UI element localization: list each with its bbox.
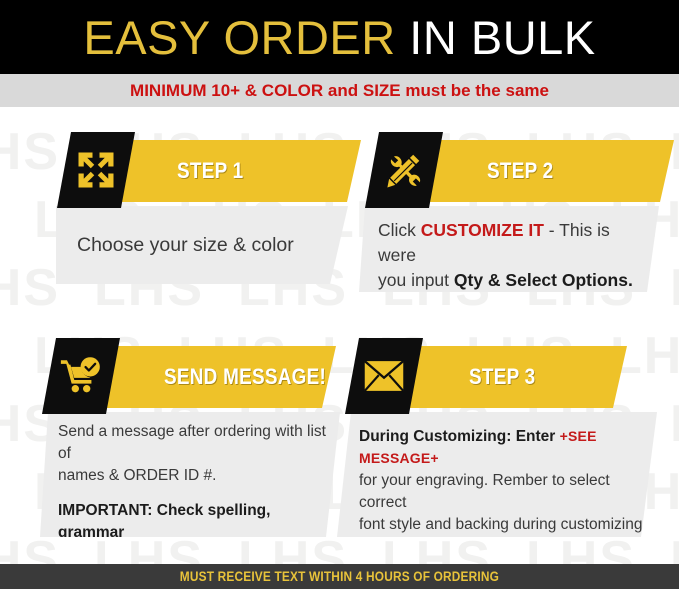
text-line: During Customizing: Enter +SEE MESSAGE+ xyxy=(359,426,647,470)
card-step2-text: Click CUSTOMIZE IT - This is wereyou inp… xyxy=(359,206,659,293)
card-send-message-banner-label: SEND MESSAGE! xyxy=(164,364,326,390)
card-send-message-body: Send a message after ordering with list … xyxy=(40,412,340,537)
page-title-white: IN BULK xyxy=(409,11,595,64)
promo-poster: LHSLHSLHSLHSLHSLHSLHSLHSLHSLHSLHSLHSLHSL… xyxy=(0,0,679,589)
text-segment: for your engraving. Rember to select cor… xyxy=(359,472,610,511)
card-send-message-banner: SEND MESSAGE! xyxy=(106,346,336,408)
card-step2-header: STEP 2 xyxy=(365,132,655,208)
card-step1-text: Choose your size & color xyxy=(56,206,348,260)
card-step2-banner-label: STEP 2 xyxy=(487,158,553,184)
subtitle-bar: MINIMUM 10+ & COLOR and SIZE must be the… xyxy=(0,74,679,107)
card-step2: STEP 2 xyxy=(365,132,655,208)
text-segment: IMPORTANT: xyxy=(58,502,152,519)
card-step2-banner: STEP 2 xyxy=(429,140,674,202)
card-step3-body: During Customizing: Enter +SEE MESSAGE+f… xyxy=(337,412,657,537)
card-step3-banner: STEP 3 xyxy=(407,346,627,408)
text-segment: Choose your size & color xyxy=(77,234,294,256)
footer-text: MUST RECEIVE TEXT WITHIN 4 HOURS OF ORDE… xyxy=(180,569,499,584)
card-step1: STEP 1 Choose your size & color xyxy=(57,132,347,208)
text-segment: Click xyxy=(378,220,421,240)
subtitle-text: MINIMUM 10+ & COLOR and SIZE must be the… xyxy=(130,81,549,101)
text-line: for your engraving. Rember to select cor… xyxy=(359,470,647,514)
footer-bar: MUST RECEIVE TEXT WITHIN 4 HOURS OF ORDE… xyxy=(0,564,679,589)
card-step1-header: STEP 1 xyxy=(57,132,347,208)
text-line: you input Qty & Select Options. xyxy=(378,268,649,293)
title-bar: EASY ORDER IN BULK xyxy=(0,0,679,74)
text-line: font style and backing during customizin… xyxy=(359,514,647,536)
page-title-gold: EASY ORDER xyxy=(83,11,395,64)
text-line: IMPORTANT: Check spelling, grammar xyxy=(58,500,326,544)
text-segment: Send a message after ordering with list … xyxy=(58,423,326,462)
text-segment: CUSTOMIZE IT xyxy=(421,220,544,240)
text-line: Send a message after ordering with list … xyxy=(58,421,326,465)
text-line: Click CUSTOMIZE IT - This is were xyxy=(378,218,649,268)
card-step3: STEP 3 During Customizing: Enter +SEE ME… xyxy=(345,338,655,414)
card-step3-banner-label: STEP 3 xyxy=(469,364,535,390)
card-step2-body: Click CUSTOMIZE IT - This is wereyou inp… xyxy=(359,206,659,292)
text-segment: font style and backing during customizin… xyxy=(359,516,647,533)
page-title: EASY ORDER IN BULK xyxy=(83,14,595,61)
text-line: names & ORDER ID #. xyxy=(58,465,326,487)
card-send-message: SEND MESSAGE! Send a message after order… xyxy=(42,338,342,414)
text-segment: color/size xyxy=(58,546,130,563)
card-step3-header: STEP 3 xyxy=(345,338,655,414)
text-segment: During Customizing: Enter xyxy=(359,428,560,445)
card-step1-banner-label: STEP 1 xyxy=(177,158,243,184)
text-segment: names & ORDER ID #. xyxy=(58,467,217,484)
card-step1-body: Choose your size & color xyxy=(56,206,348,284)
text-line: Choose your size & color xyxy=(77,232,348,260)
card-send-message-header: SEND MESSAGE! xyxy=(42,338,342,414)
card-step3-text: During Customizing: Enter +SEE MESSAGE+f… xyxy=(337,412,657,536)
text-segment: Qty & Select Options. xyxy=(454,270,633,290)
card-step1-banner: STEP 1 xyxy=(121,140,361,202)
card-send-message-text: Send a message after ordering with list … xyxy=(40,412,340,588)
text-segment: you input xyxy=(378,270,454,290)
